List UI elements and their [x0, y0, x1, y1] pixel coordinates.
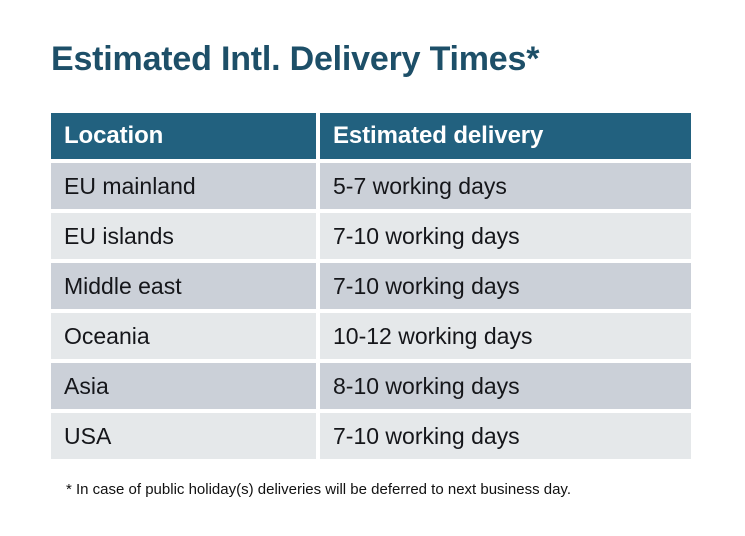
delivery-times-panel: Estimated Intl. Delivery Times* Location…: [0, 0, 745, 536]
cell-location: EU mainland: [51, 163, 316, 209]
table-row: EU islands 7-10 working days: [51, 213, 691, 259]
column-header-location: Location: [51, 113, 316, 159]
cell-estimated-delivery: 7-10 working days: [320, 413, 691, 459]
table-header-row: Location Estimated delivery: [51, 113, 691, 159]
cell-estimated-delivery: 10-12 working days: [320, 313, 691, 359]
table-row: Oceania 10-12 working days: [51, 313, 691, 359]
table-row: USA 7-10 working days: [51, 413, 691, 459]
cell-location: Oceania: [51, 313, 316, 359]
cell-estimated-delivery: 7-10 working days: [320, 213, 691, 259]
cell-location: Middle east: [51, 263, 316, 309]
cell-estimated-delivery: 7-10 working days: [320, 263, 691, 309]
table-row: EU mainland 5-7 working days: [51, 163, 691, 209]
page-title: Estimated Intl. Delivery Times*: [51, 38, 539, 80]
cell-location: Asia: [51, 363, 316, 409]
footnote-text: * In case of public holiday(s) deliverie…: [66, 480, 571, 500]
column-header-estimated-delivery: Estimated delivery: [320, 113, 691, 159]
cell-estimated-delivery: 5-7 working days: [320, 163, 691, 209]
table-row: Asia 8-10 working days: [51, 363, 691, 409]
cell-estimated-delivery: 8-10 working days: [320, 363, 691, 409]
cell-location: USA: [51, 413, 316, 459]
delivery-times-table: Location Estimated delivery EU mainland …: [51, 113, 691, 459]
cell-location: EU islands: [51, 213, 316, 259]
table-row: Middle east 7-10 working days: [51, 263, 691, 309]
